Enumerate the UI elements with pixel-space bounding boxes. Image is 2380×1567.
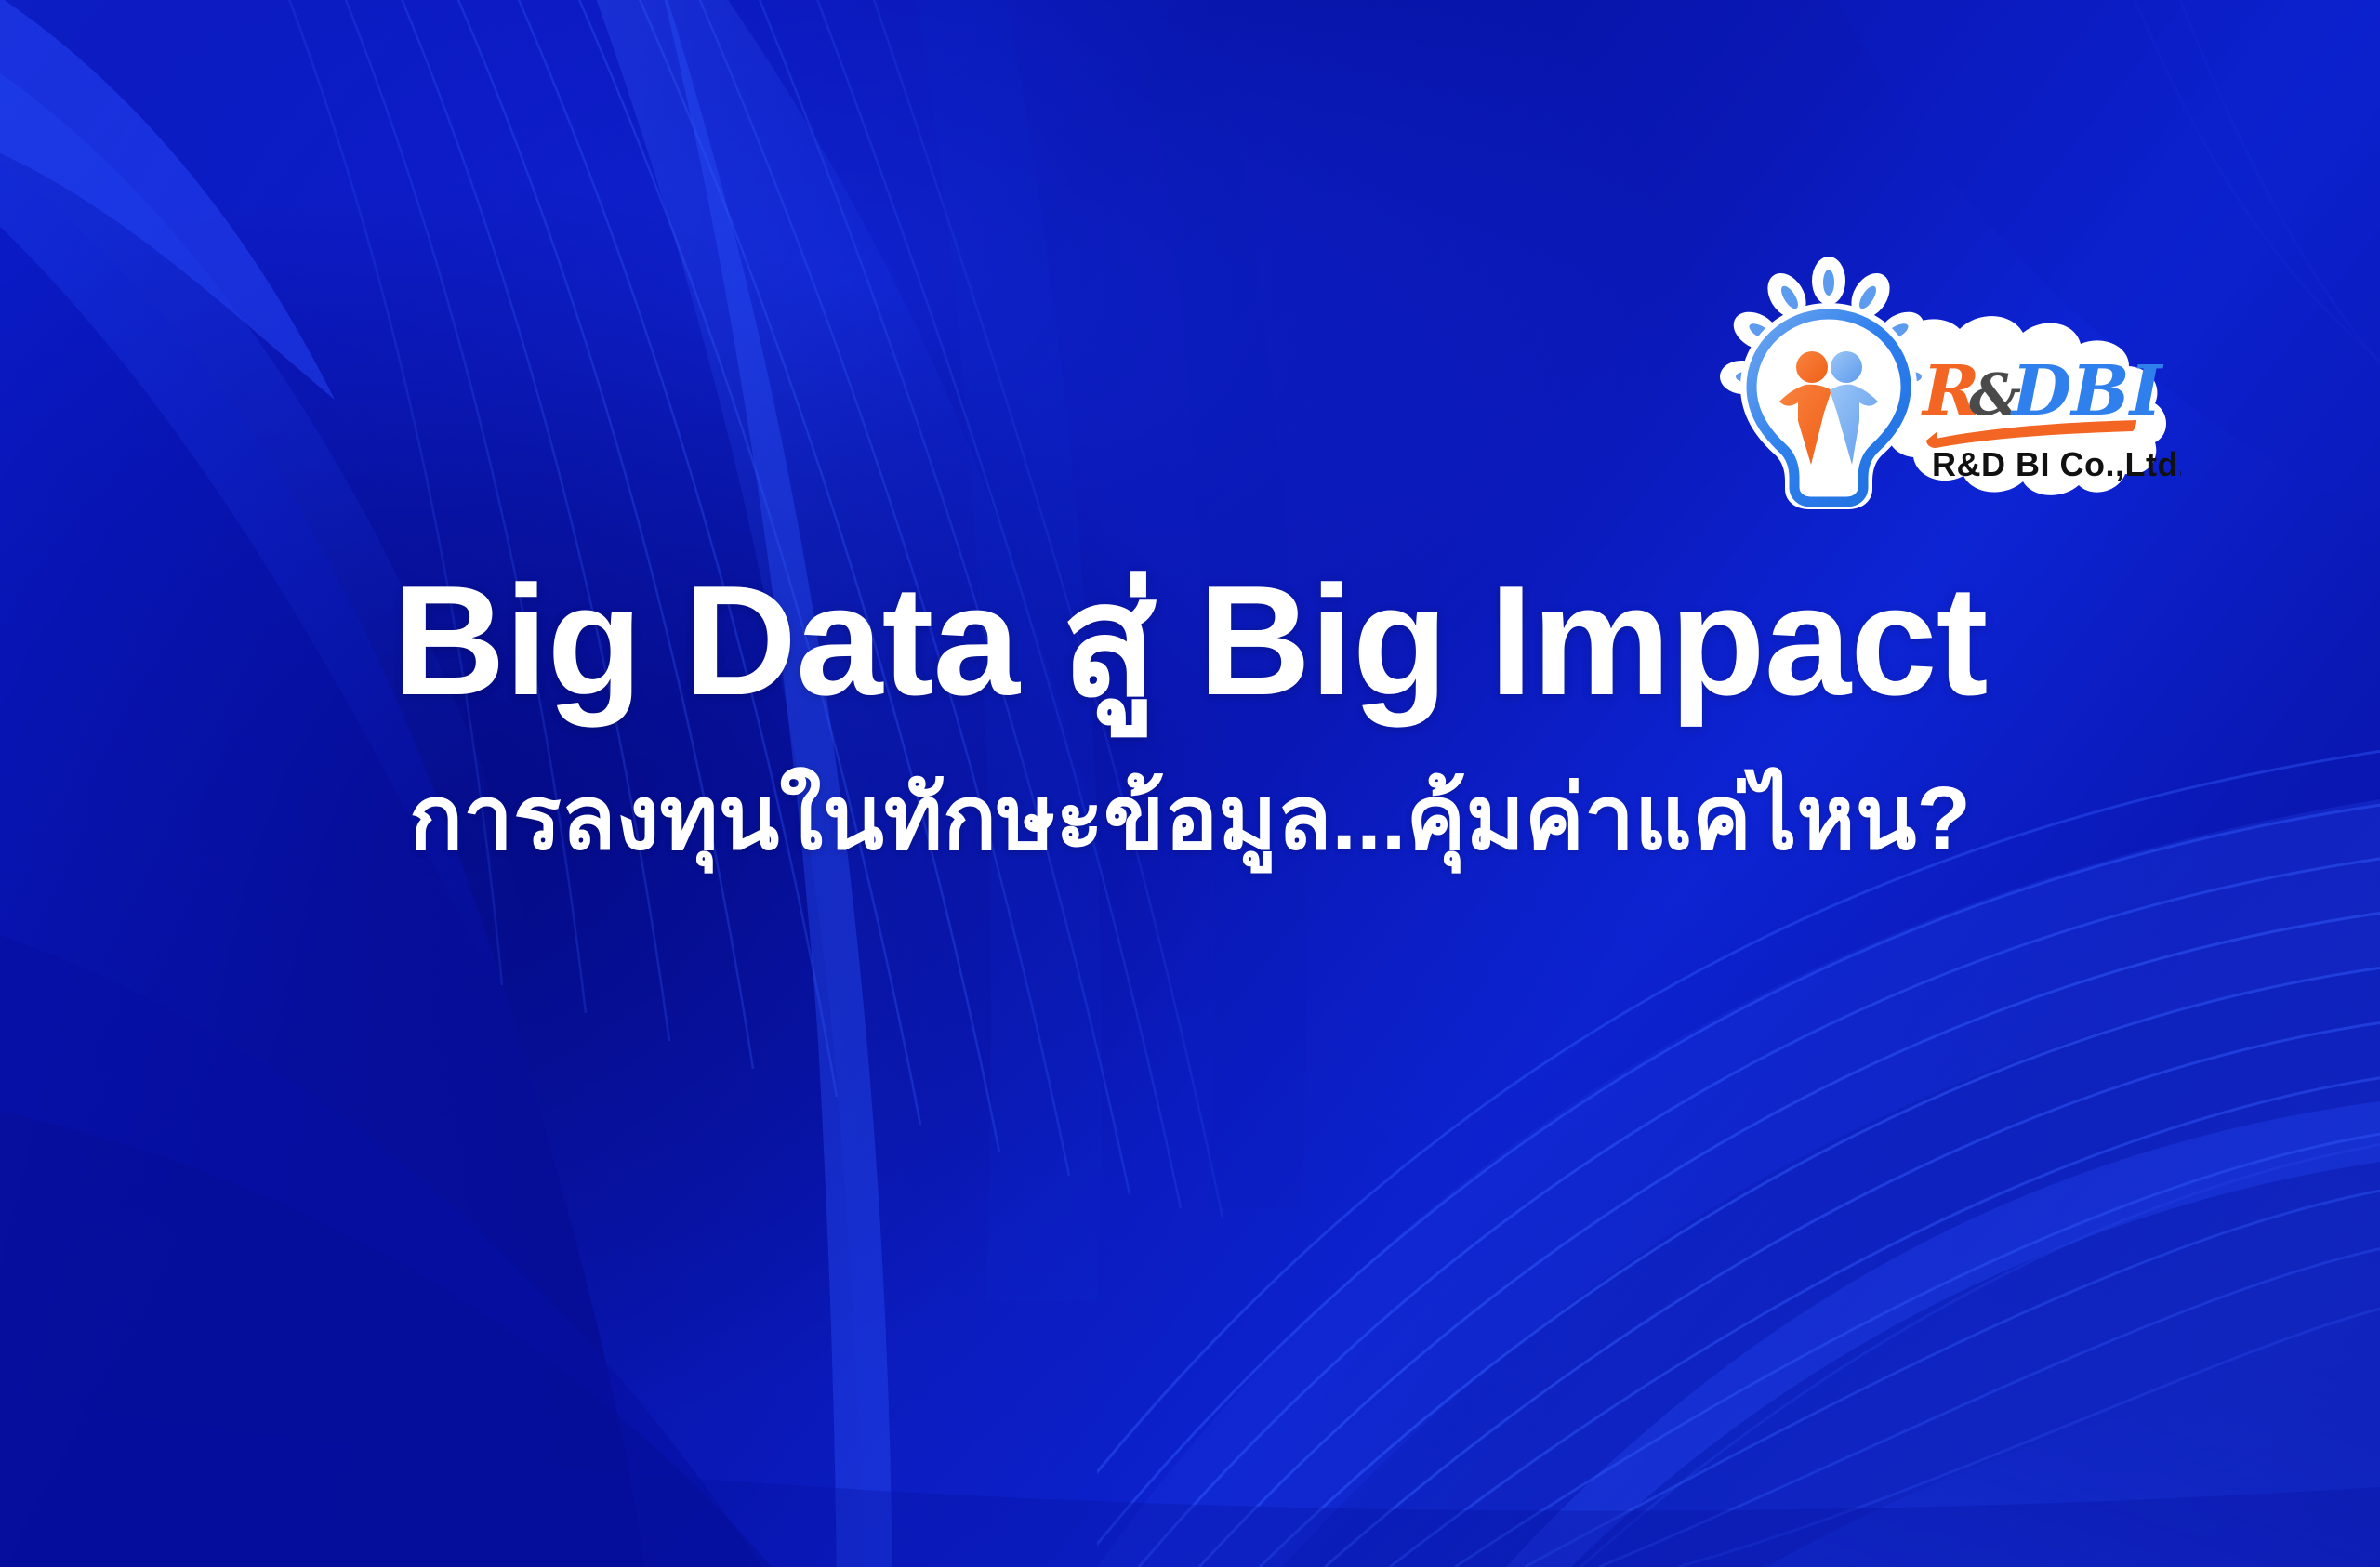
promo-banner: R & DBI R&D BI Co.,Ltd. Big Data สู่ Big… <box>0 0 2380 1567</box>
page-subtitle: การลงทุนในทักษะข้อมูล...คุ้มค่าแค่ไหน? <box>0 766 2380 871</box>
banner-text-block: Big Data สู่ Big Impact การลงทุนในทักษะข… <box>0 558 2380 871</box>
logo-tagline: R&D BI Co.,Ltd. <box>1932 445 2181 483</box>
lightbulb-icon <box>1740 303 1917 509</box>
page-title: Big Data สู่ Big Impact <box>0 558 2380 723</box>
logo-wordmark: R & DBI <box>1921 351 2164 431</box>
wordmark-dbi: DBI <box>2010 351 2164 431</box>
company-logo[interactable]: R & DBI R&D BI Co.,Ltd. <box>1716 249 2181 509</box>
